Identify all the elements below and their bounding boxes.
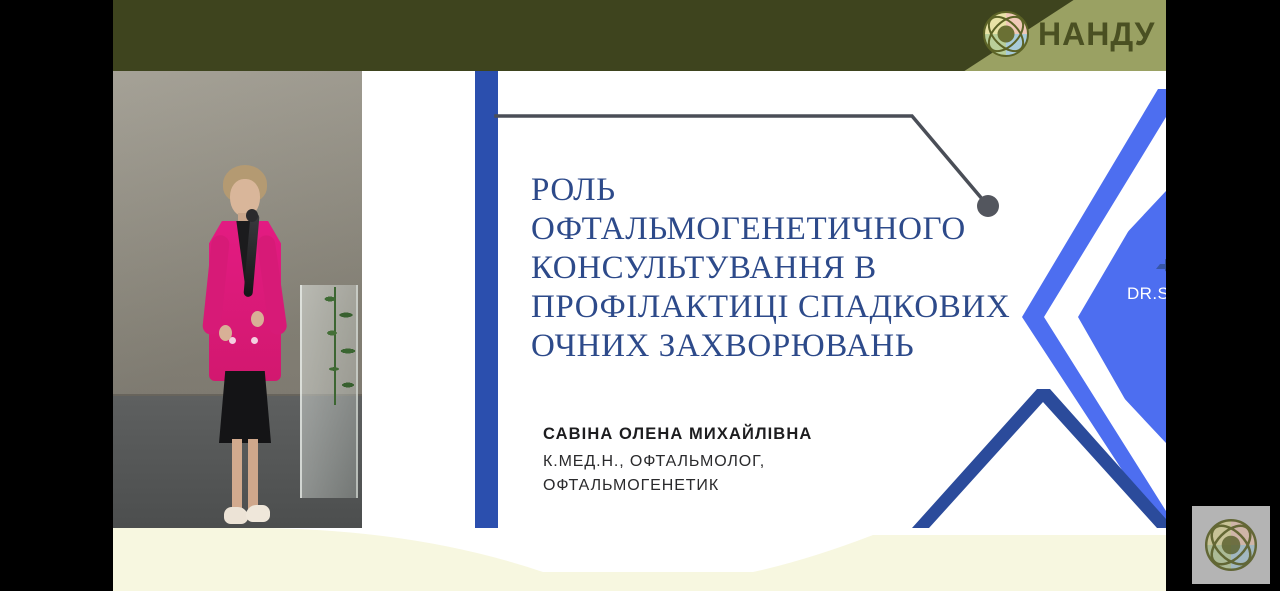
video-stream-frame: НАНДУ [113, 0, 1166, 591]
nandu-atom-logo-icon [981, 9, 1031, 59]
left-hand [219, 325, 232, 341]
black-skirt [219, 371, 271, 443]
bottom-cream-band [113, 500, 1166, 591]
blazer-button [251, 337, 258, 344]
banner-brand-text: НАНДУ [1038, 16, 1155, 53]
person-with-microphone [191, 165, 295, 528]
top-banner: НАНДУ [113, 0, 1166, 71]
microphone-head-icon [246, 209, 258, 222]
right-hand [251, 311, 264, 327]
potted-plant-icon [322, 289, 362, 399]
speaker-photo [113, 71, 362, 528]
presenter-role: К.МЕД.Н., ОФТАЛЬМОЛОГ, ОФТАЛЬМОГЕНЕТИК [543, 450, 765, 498]
presenter-name: САВІНА ОЛЕНА МИХАЙЛІВНА [543, 425, 812, 444]
nandu-atom-watermark-icon [1192, 506, 1270, 584]
screen: НАНДУ [0, 0, 1280, 591]
slide-chevron-decoration [882, 71, 1166, 528]
presentation-slide: РОЛЬ ОФТАЛЬМОГЕНЕТИЧНОГО КОНСУЛЬТУВАННЯ … [362, 71, 1166, 528]
